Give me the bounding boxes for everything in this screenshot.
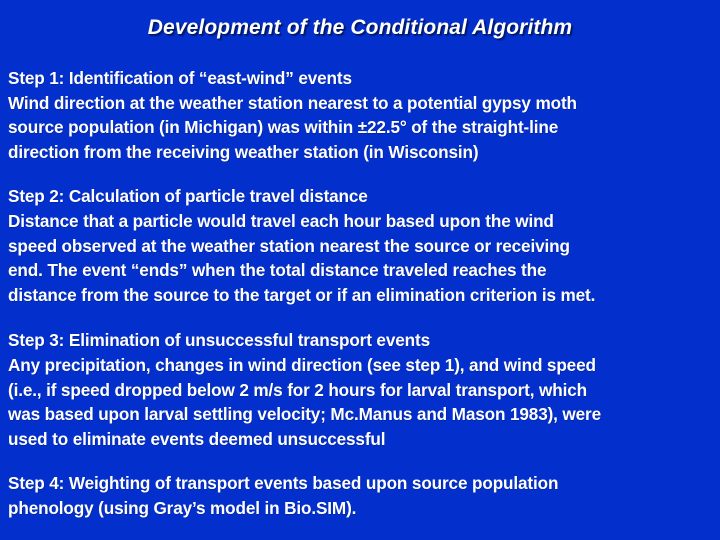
step-2-line-4: end. The event “ends” when the total dis… (8, 258, 718, 283)
step-3-line-2: Any precipitation, changes in wind direc… (8, 353, 718, 378)
step-block-2: Step 2: Calculation of particle travel d… (8, 184, 718, 307)
step-2-line-3: speed observed at the weather station ne… (8, 234, 718, 259)
page-title: Development of the Conditional Algorithm (0, 16, 720, 40)
step-block-1: Step 1: Identification of “east-wind” ev… (8, 66, 718, 164)
step-3-line-5: used to eliminate events deemed unsucces… (8, 427, 718, 452)
step-2-line-2: Distance that a particle would travel ea… (8, 209, 718, 234)
step-block-4: Step 4: Weighting of transport events ba… (8, 471, 718, 520)
step-3-line-3: (i.e., if speed dropped below 2 m/s for … (8, 378, 718, 403)
step-1-line-1: Step 1: Identification of “east-wind” ev… (8, 66, 718, 91)
step-3-line-1: Step 3: Elimination of unsuccessful tran… (8, 328, 718, 353)
step-1-line-3: source population (in Michigan) was with… (8, 115, 718, 140)
step-1-line-4: direction from the receiving weather sta… (8, 140, 718, 165)
step-1-line-2: Wind direction at the weather station ne… (8, 91, 718, 116)
step-3-line-4: was based upon larval settling velocity;… (8, 402, 718, 427)
step-4-line-2: phenology (using Gray’s model in Bio.SIM… (8, 496, 718, 521)
step-4-line-1: Step 4: Weighting of transport events ba… (8, 471, 718, 496)
step-2-line-1: Step 2: Calculation of particle travel d… (8, 184, 718, 209)
slide-canvas: Development of the Conditional Algorithm… (0, 0, 720, 540)
step-2-line-5: distance from the source to the target o… (8, 283, 718, 308)
step-block-3: Step 3: Elimination of unsuccessful tran… (8, 328, 718, 451)
slide-body: Step 1: Identification of “east-wind” ev… (8, 66, 718, 521)
